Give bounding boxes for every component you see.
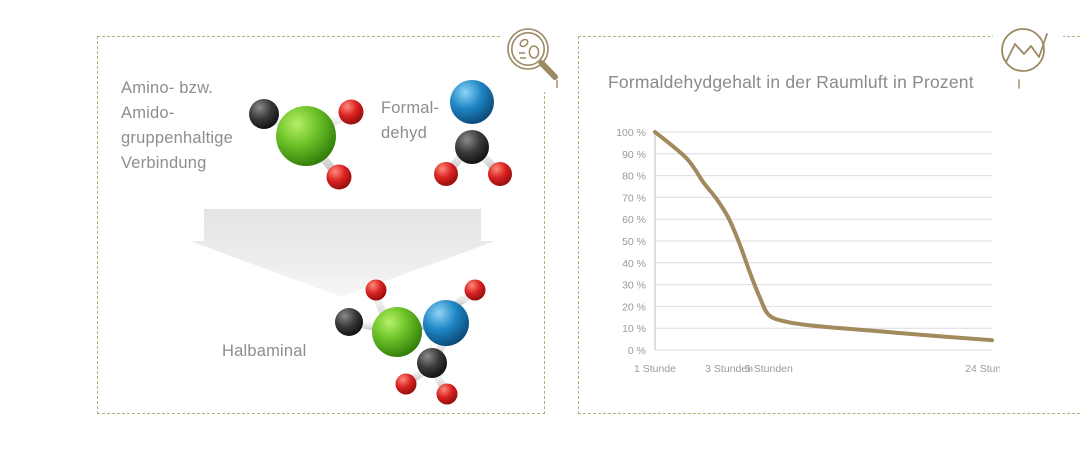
halbaminal-molecule — [326, 276, 508, 408]
y-tick-label: 20 % — [622, 301, 646, 313]
chart-plot-area: 100 %90 %80 %70 %60 %50 %40 %30 %20 %10 … — [600, 118, 1000, 383]
y-tick-label: 80 % — [622, 171, 646, 183]
y-tick-label: 70 % — [622, 192, 646, 204]
trend-chart-icon — [993, 22, 1063, 92]
formaldehyde-molecule — [434, 74, 526, 192]
x-tick-label: 1 Stunde — [634, 363, 676, 375]
chart-svg: 100 %90 %80 %70 %60 %50 %40 %30 %20 %10 … — [600, 118, 1000, 383]
y-tick-label: 60 % — [622, 214, 646, 226]
chart-gridlines — [655, 132, 992, 350]
chart-x-tick-labels: 1 Stunde3 Stunden5 Stunden24 Stunden — [634, 363, 1000, 375]
y-tick-label: 0 % — [628, 345, 646, 357]
y-tick-label: 50 % — [622, 236, 646, 248]
y-tick-label: 10 % — [622, 323, 646, 335]
x-tick-label: 5 Stunden — [745, 363, 793, 375]
chart-title: Formaldehydgehalt in der Raumluft in Pro… — [608, 72, 974, 93]
y-tick-label: 30 % — [622, 280, 646, 292]
y-tick-label: 40 % — [622, 258, 646, 270]
chart-y-tick-labels: 100 %90 %80 %70 %60 %50 %40 %30 %20 %10 … — [616, 127, 646, 357]
diagram-canvas: Amino- bzw. Amido- gruppenhaltige Verbin… — [0, 0, 1080, 462]
chart-data-line — [655, 132, 992, 340]
y-tick-label: 100 % — [616, 127, 646, 139]
amine-molecule — [238, 84, 373, 196]
x-tick-label: 24 Stunden — [965, 363, 1000, 375]
y-tick-label: 90 % — [622, 149, 646, 161]
